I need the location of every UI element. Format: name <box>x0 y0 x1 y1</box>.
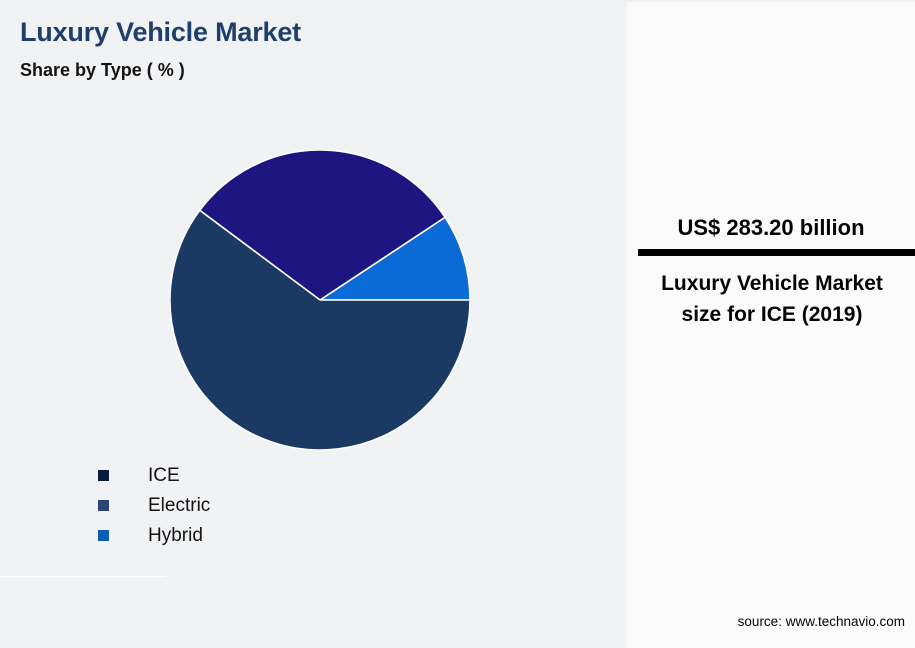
infographic-canvas: Luxury Vehicle Market Share by Type ( % … <box>0 0 915 648</box>
legend-label-electric: Electric <box>148 493 210 519</box>
callout-caption: Luxury Vehicle Market size for ICE (2019… <box>641 268 903 330</box>
legend-item-ice[interactable]: ICE <box>98 463 498 493</box>
callout-panel: US$ 283.20 billion Luxury Vehicle Market… <box>627 0 915 648</box>
page-title: Luxury Vehicle Market <box>20 17 301 48</box>
pie-slice-group <box>170 150 470 450</box>
chart-subtitle: Share by Type ( % ) <box>20 60 185 81</box>
legend-swatch-electric <box>98 500 109 511</box>
pie-chart <box>170 150 470 450</box>
chart-legend: ICE Electric Hybrid <box>98 463 498 553</box>
pie-chart-svg <box>170 150 470 450</box>
legend-item-electric[interactable]: Electric <box>98 493 498 523</box>
legend-swatch-ice <box>98 470 109 481</box>
callout-value: US$ 283.20 billion <box>638 215 904 241</box>
legend-swatch-hybrid <box>98 530 109 541</box>
callout-divider <box>638 249 915 256</box>
divider-line <box>0 576 166 577</box>
legend-item-hybrid[interactable]: Hybrid <box>98 523 498 553</box>
legend-label-hybrid: Hybrid <box>148 523 203 549</box>
panel-top-edge <box>627 0 915 2</box>
legend-label-ice: ICE <box>148 463 180 489</box>
chart-panel: Luxury Vehicle Market Share by Type ( % … <box>0 0 627 648</box>
source-note: source: www.technavio.com <box>627 614 905 629</box>
